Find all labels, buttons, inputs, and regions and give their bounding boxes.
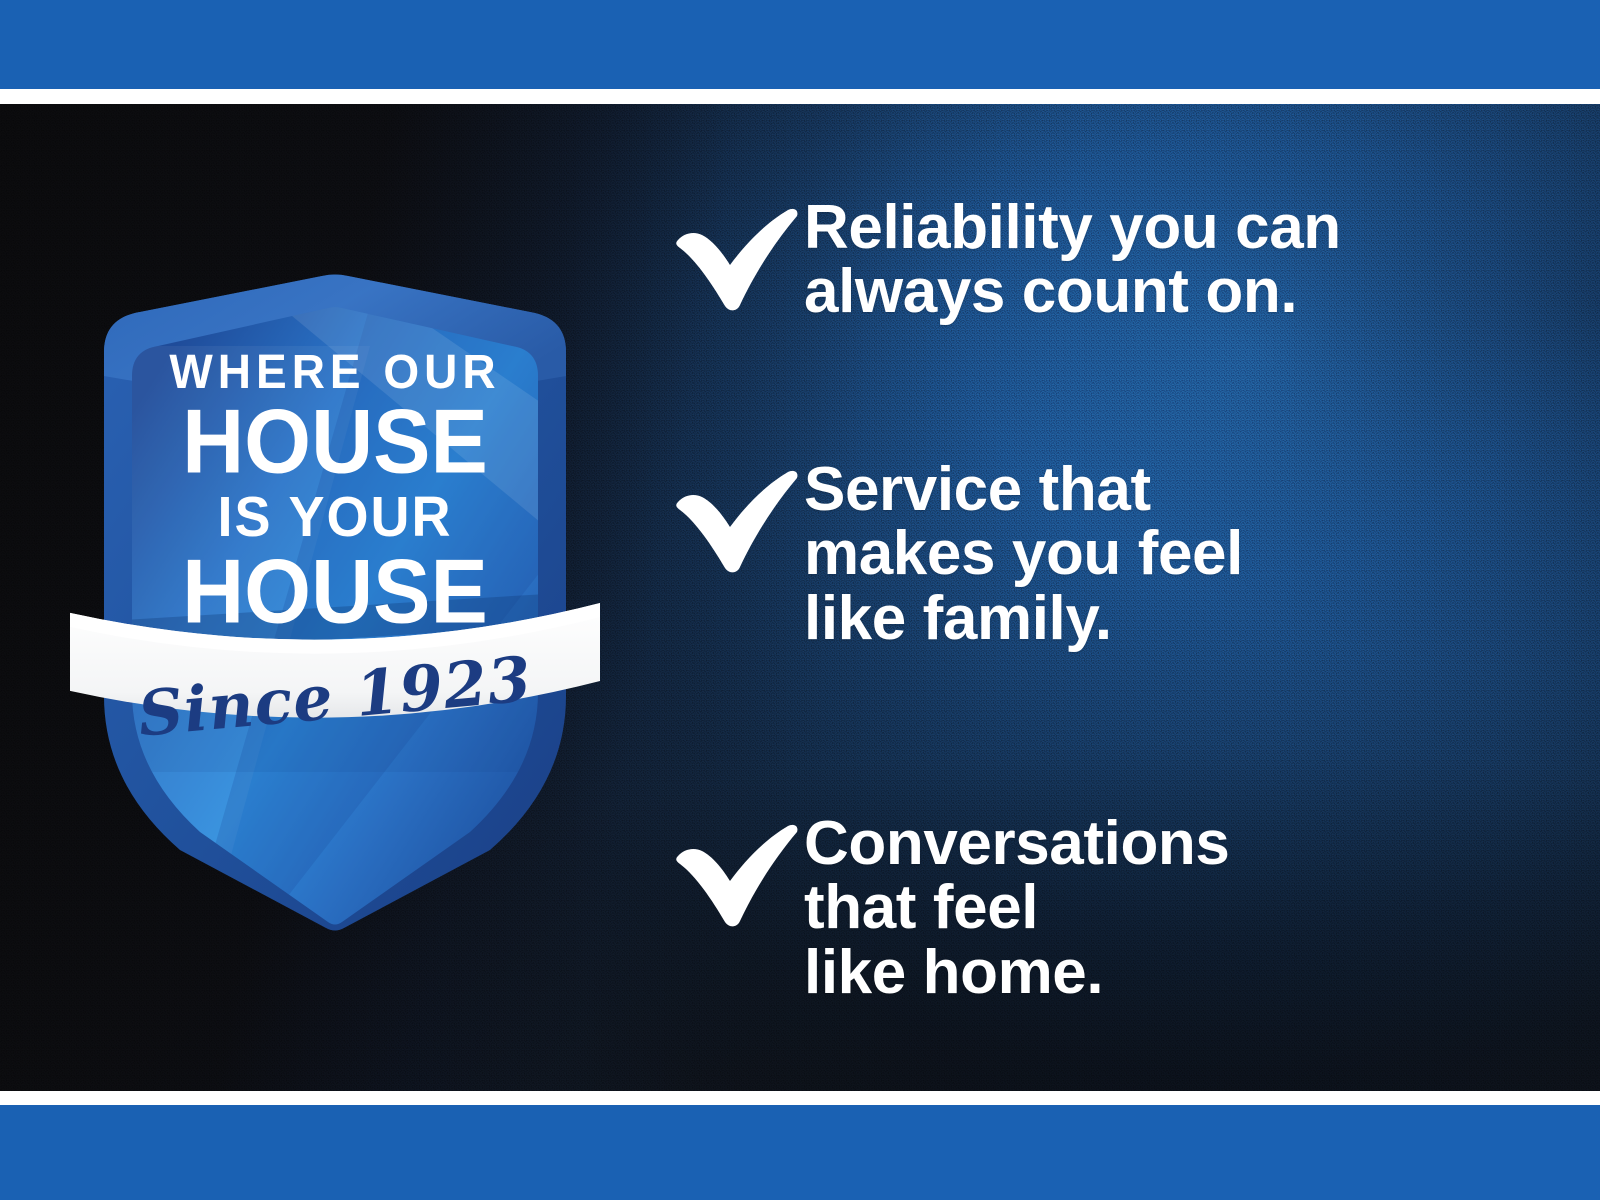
promo-graphic: WHERE OUR HOUSE IS YOUR HOUSE Since 1923… — [0, 0, 1600, 1200]
checkmark-icon — [672, 202, 804, 322]
bottom-brand-bar — [0, 1105, 1600, 1200]
badge: WHERE OUR HOUSE IS YOUR HOUSE Since 1923 — [70, 272, 600, 932]
top-brand-bar — [0, 0, 1600, 89]
checkmark-icon — [672, 464, 804, 584]
shield-graphic — [70, 272, 600, 932]
benefit-text-2: Service that makes you feel like family. — [804, 458, 1243, 651]
benefit-item-3: Conversations that feel like home. — [672, 812, 1229, 1005]
checkmark-icon — [672, 818, 804, 938]
benefit-item-2: Service that makes you feel like family. — [672, 458, 1243, 651]
benefit-text-3: Conversations that feel like home. — [804, 812, 1229, 1005]
benefit-text-1: Reliability you can always count on. — [804, 196, 1341, 325]
benefit-item-1: Reliability you can always count on. — [672, 196, 1341, 325]
